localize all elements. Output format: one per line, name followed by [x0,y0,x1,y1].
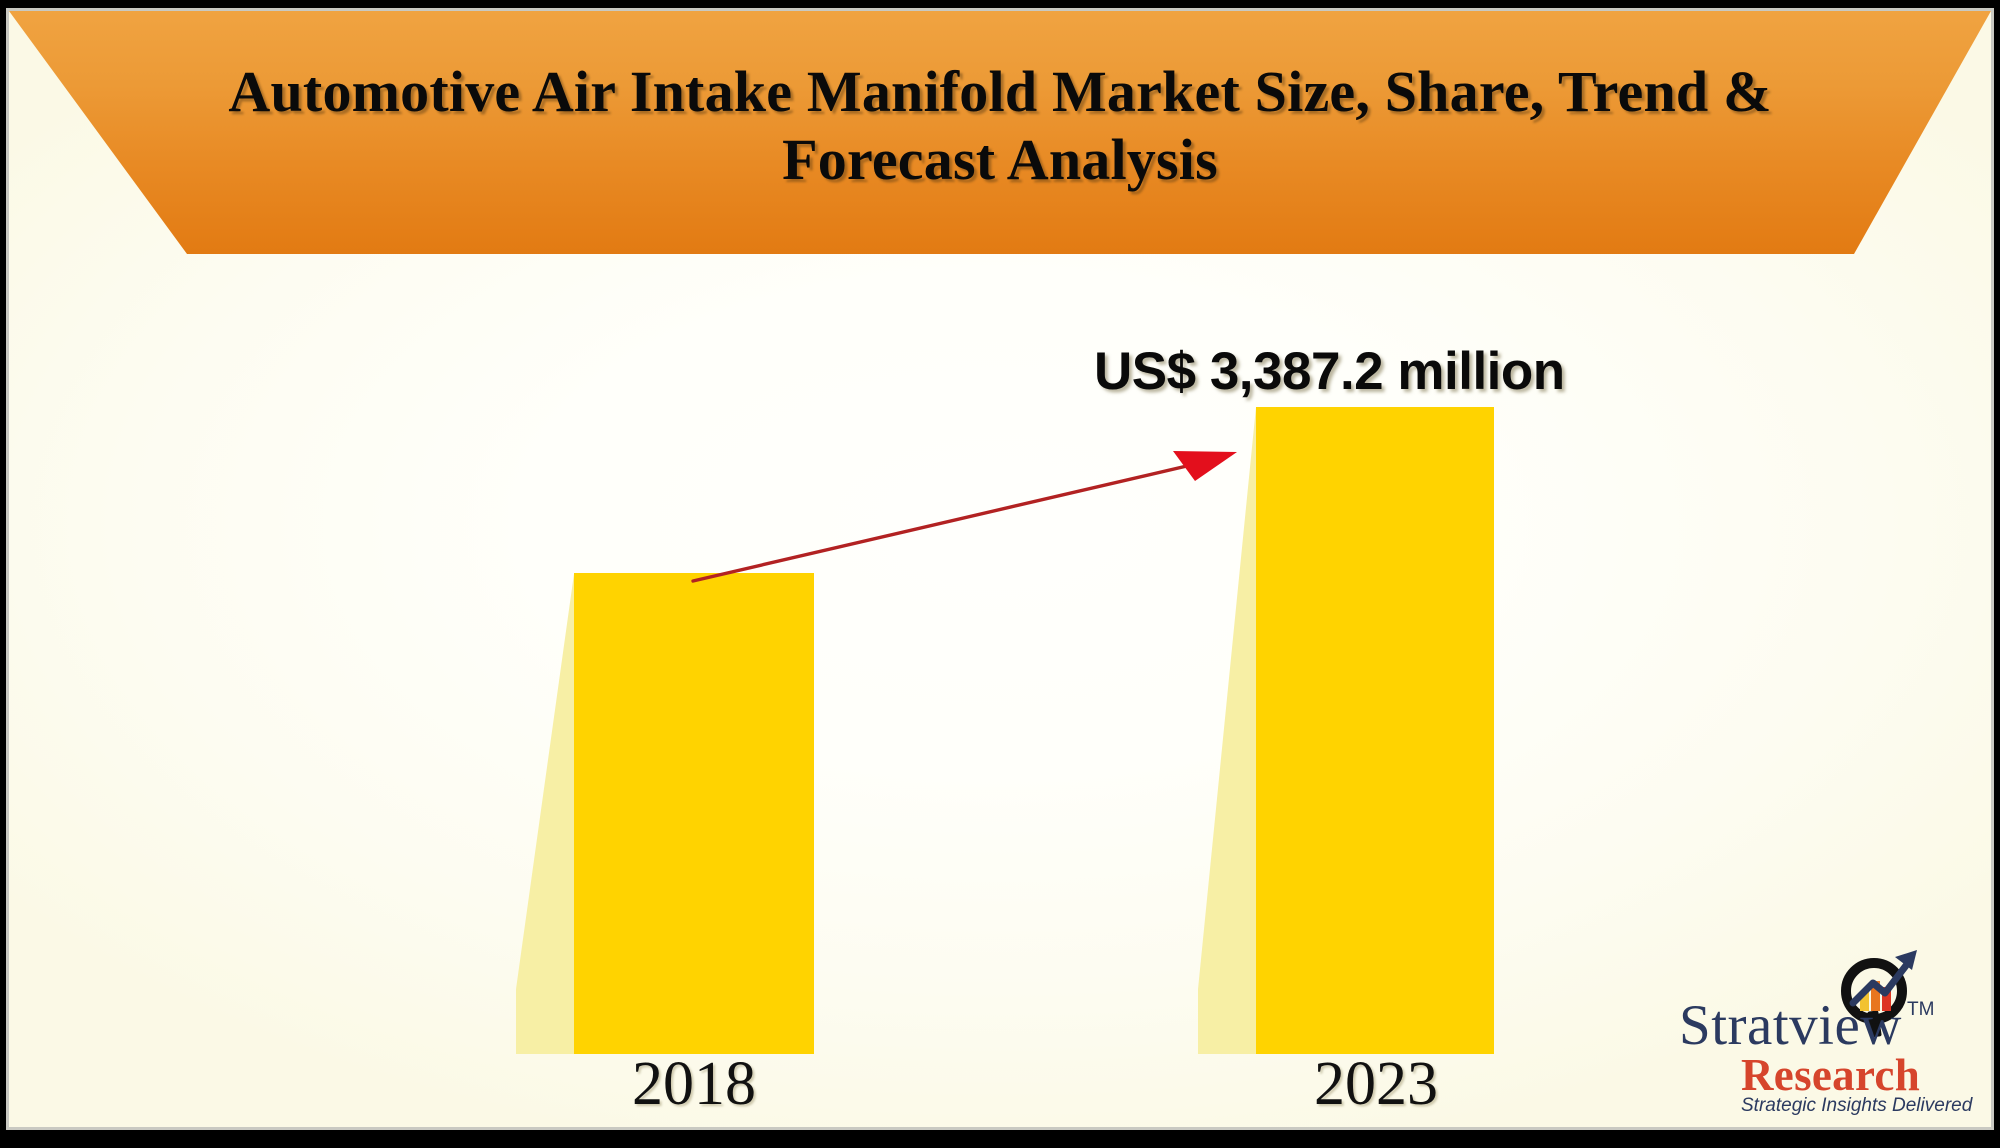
logo-trademark-symbol: TM [1907,999,1934,1021]
slide-root: Automotive Air Intake Manifold Market Si… [0,0,2000,1148]
logo-wordmark-stratview: Stratview [1679,997,1927,1054]
bar-2023 [1198,407,1494,1054]
bar-2018 [516,573,814,1054]
bar-2018-front-face [574,573,814,1054]
stratview-research-logo: Stratview TM Research Strategic Insights… [1679,937,1969,1115]
logo-wordmark-research: Research [1741,1053,1969,1098]
bar-2023-front-face [1256,407,1494,1054]
value-callout-2023: US$ 3,387.2 million [1094,341,1565,402]
bar-label-2023: 2023 [1246,1049,1506,1120]
slide-frame: Automotive Air Intake Manifold Market Si… [6,8,1994,1130]
bar-label-2018: 2018 [564,1049,824,1120]
logo-tagline: Strategic Insights Delivered [1741,1095,1969,1117]
